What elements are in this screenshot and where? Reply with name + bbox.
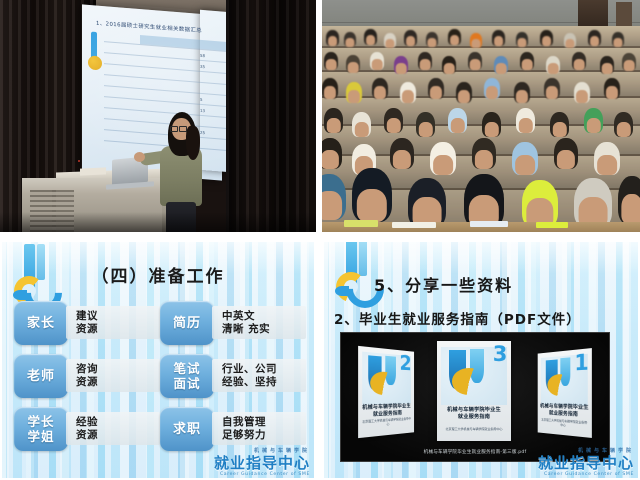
floor-shadow <box>0 212 316 232</box>
seating-tiers <box>322 26 640 232</box>
slide-materials: 5、分享一些资料 2、毕业生就业服务指南（PDF文件） 2 机械与车辆学院毕业生… <box>322 240 640 480</box>
wall-indicator-light <box>78 160 80 162</box>
papers-on-desk <box>80 167 106 175</box>
speaker-hand <box>134 152 145 162</box>
slide-preparation: （四）准备工作 家长 建议 资源 简历 中英文 清晰 充实 <box>0 240 316 480</box>
speaker-hair-side <box>186 126 200 160</box>
slide-border <box>0 240 316 480</box>
photo-audience: Students seated in tiered lecture hall a… <box>322 0 640 232</box>
notebook-4 <box>536 222 568 228</box>
notebook-2 <box>392 222 436 228</box>
slide-border <box>322 240 640 480</box>
notebook-3 <box>470 221 508 227</box>
notebook-1 <box>344 220 378 227</box>
photo-speaker-presenting: 100 100 100 100 100 100 100 100 100 100 … <box>0 0 316 232</box>
curtain-right <box>226 0 316 232</box>
speaker-glasses-icon <box>170 126 187 130</box>
photo-collage: 100 100 100 100 100 100 100 100 100 100 … <box>0 0 640 480</box>
slide-swoosh-icon <box>88 31 104 74</box>
